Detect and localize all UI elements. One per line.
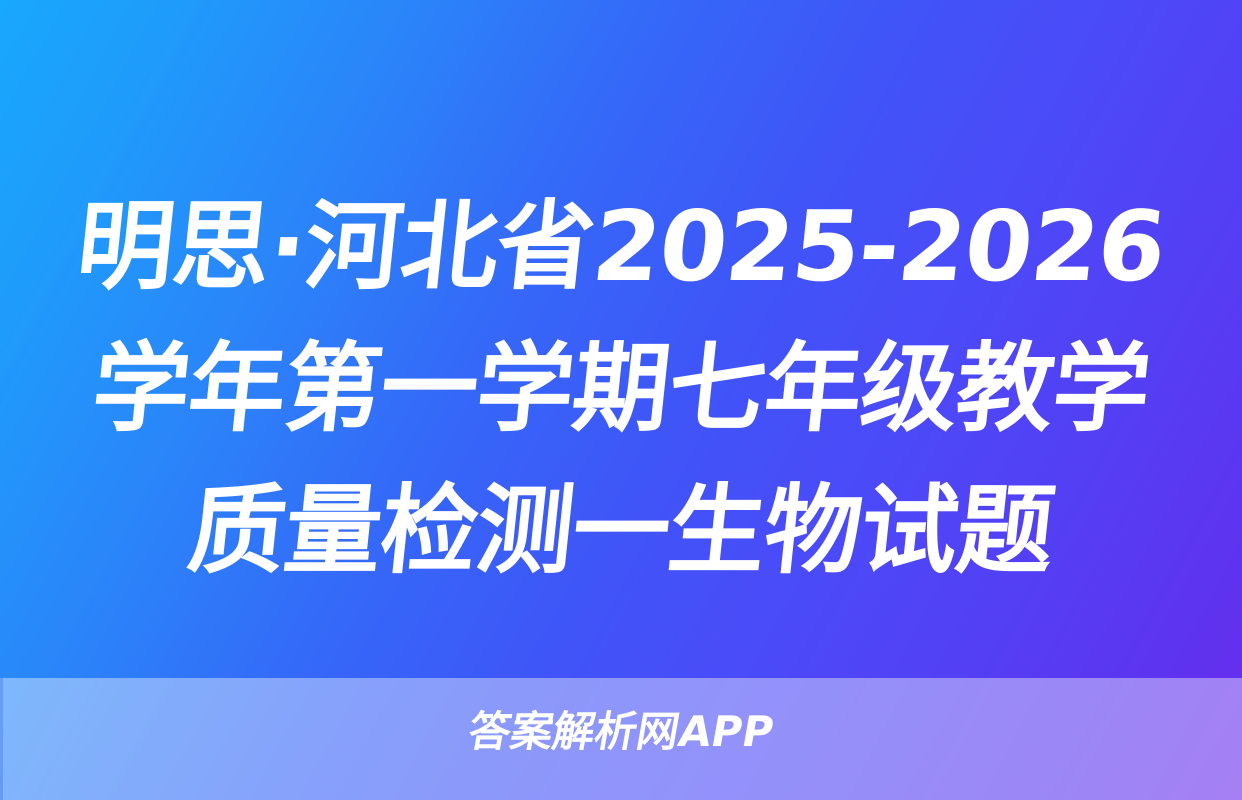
exam-cover-image: 明思·河北省2025-2026 学年第一学期七年级教学 质量检测一生物试题 答案…	[0, 0, 1242, 800]
title-line-2: 学年第一学期七年级教学	[33, 318, 1210, 460]
footer-brand-label: 答案解析网APP	[465, 707, 778, 757]
page-title: 明思·河北省2025-2026 学年第一学期七年级教学 质量检测一生物试题	[0, 176, 1242, 602]
footer-watermark: 答案解析网APP	[0, 707, 1242, 757]
title-line-3: 质量检测一生物试题	[33, 460, 1210, 602]
title-line-1: 明思·河北省2025-2026	[33, 176, 1210, 318]
